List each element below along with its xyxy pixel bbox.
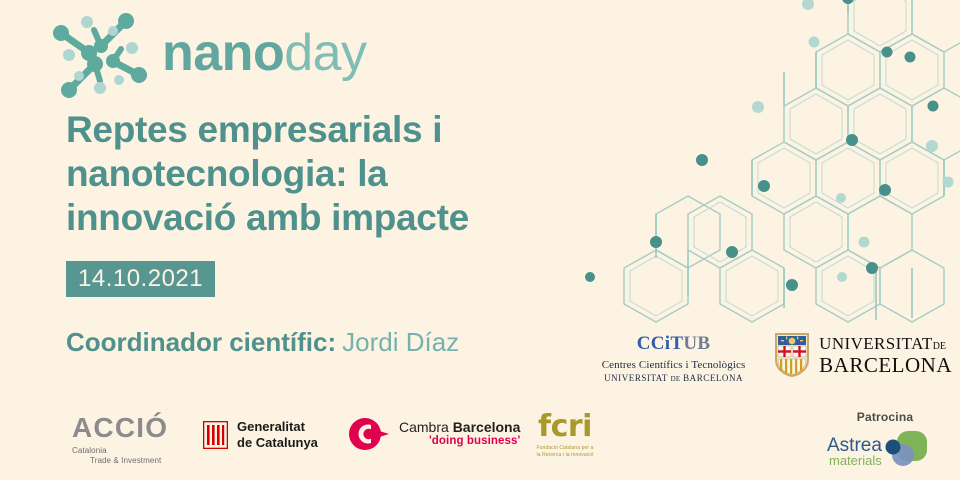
- catalonia-senyera-icon: [203, 421, 228, 449]
- coordinator-name: Jordi Díaz: [342, 327, 459, 357]
- ub-shield-icon: [773, 332, 811, 378]
- svg-text:materials: materials: [829, 453, 882, 468]
- ub-wordmark: UNIVERSITATDE BARCELONA: [819, 335, 952, 376]
- generalitat-line-1: Generalitat: [237, 419, 318, 435]
- universitat-de-barcelona-logo: UNIVERSITATDE BARCELONA: [773, 330, 952, 378]
- nanoday-logo: nanoday: [44, 8, 367, 104]
- cambra-tagline: 'doing business': [399, 435, 520, 448]
- institution-logos: CCiTUB Centres Científics i Tecnològics …: [592, 330, 952, 394]
- ccitub-universitat: UNIVERSITAT: [604, 373, 668, 383]
- ccitub-subtitle: Centres Científics i Tecnològics: [592, 359, 755, 373]
- astrea-materials-logo: Astrea materials: [815, 429, 955, 473]
- accio-wordmark: ACCIÓ: [72, 414, 190, 442]
- ccitub-acronym-ub: UB: [683, 333, 710, 354]
- sponsor-logos-row: ACCIÓ Catalonia Trade & Investment Gener…: [0, 404, 960, 480]
- ccitub-acronym-t: T: [670, 333, 683, 354]
- ccitub-barcelona: BARCELONA: [683, 373, 743, 383]
- ccitub-university-line: UNIVERSITAT DE BARCELONA: [592, 373, 755, 385]
- accio-tagline-line-2: Trade & Investment: [72, 456, 190, 466]
- cambra-word-cambra: Cambra: [399, 419, 453, 435]
- accio-tagline: Catalonia Trade & Investment: [72, 446, 190, 466]
- cambra-wordmark: Cambra Barcelona 'doing business': [399, 419, 520, 448]
- fcri-tagline-line-2: la Recerca i la Innovació: [520, 452, 610, 459]
- generalitat-wordmark: Generalitat de Catalunya: [237, 419, 318, 451]
- ccitub-acronym-cci: CCi: [637, 333, 671, 354]
- ccitub-logo: CCiTUB Centres Científics i Tecnològics …: [592, 330, 755, 384]
- event-date-badge: 14.10.2021: [66, 261, 215, 297]
- ub-universitat: UNIVERSITAT: [819, 334, 933, 353]
- page-title: Reptes empresarials i nanotecnologia: la…: [66, 108, 606, 240]
- ub-line-2: BARCELONA: [819, 355, 952, 376]
- ccitub-de: DE: [671, 375, 681, 383]
- fcri-tagline-line-1: Fundació Catalana per a: [520, 445, 610, 452]
- cambra-barcelona-logo: Cambra Barcelona 'doing business': [348, 417, 520, 451]
- cambra-word-barcelona: Barcelona: [453, 419, 521, 435]
- fcri-logo: fcri Fundació Catalana per a la Recerca …: [520, 412, 610, 459]
- ub-de: DE: [933, 341, 946, 352]
- fcri-wordmark: fcri: [520, 412, 610, 442]
- accio-logo: ACCIÓ Catalonia Trade & Investment: [72, 414, 190, 466]
- patrocina-block: Patrocina Astrea materials: [815, 410, 955, 473]
- headline-line-2: nanotecnologia: la: [66, 152, 606, 196]
- patrocina-label: Patrocina: [815, 410, 955, 424]
- ccitub-acronym: CCiTUB: [592, 334, 755, 353]
- headline-line-3: innovació amb impacte: [66, 196, 606, 240]
- generalitat-line-2: de Catalunya: [237, 435, 318, 451]
- coordinator-label: Coordinador científic:: [66, 327, 336, 357]
- fcri-tagline: Fundació Catalana per a la Recerca i la …: [520, 445, 610, 459]
- coordinator-line: Coordinador científic:Jordi Díaz: [66, 328, 459, 357]
- nanoparticle-network-icon: [44, 8, 156, 104]
- brand-word-nano: nano: [162, 24, 284, 82]
- nanoday-wordmark: nanoday: [162, 27, 367, 85]
- generalitat-de-catalunya-logo: Generalitat de Catalunya: [203, 419, 318, 451]
- ub-line-1: UNIVERSITATDE: [819, 335, 952, 352]
- accio-tagline-line-1: Catalonia: [72, 446, 190, 456]
- headline-line-1: Reptes empresarials i: [66, 108, 606, 152]
- cambra-c-icon: [348, 417, 392, 451]
- cambra-line-1: Cambra Barcelona: [399, 419, 520, 435]
- astrea-circles-icon: Astrea materials: [825, 429, 945, 473]
- brand-word-day: day: [284, 24, 366, 82]
- nanoday-event-poster: nanoday Reptes empresarials i nanotecnol…: [0, 0, 960, 480]
